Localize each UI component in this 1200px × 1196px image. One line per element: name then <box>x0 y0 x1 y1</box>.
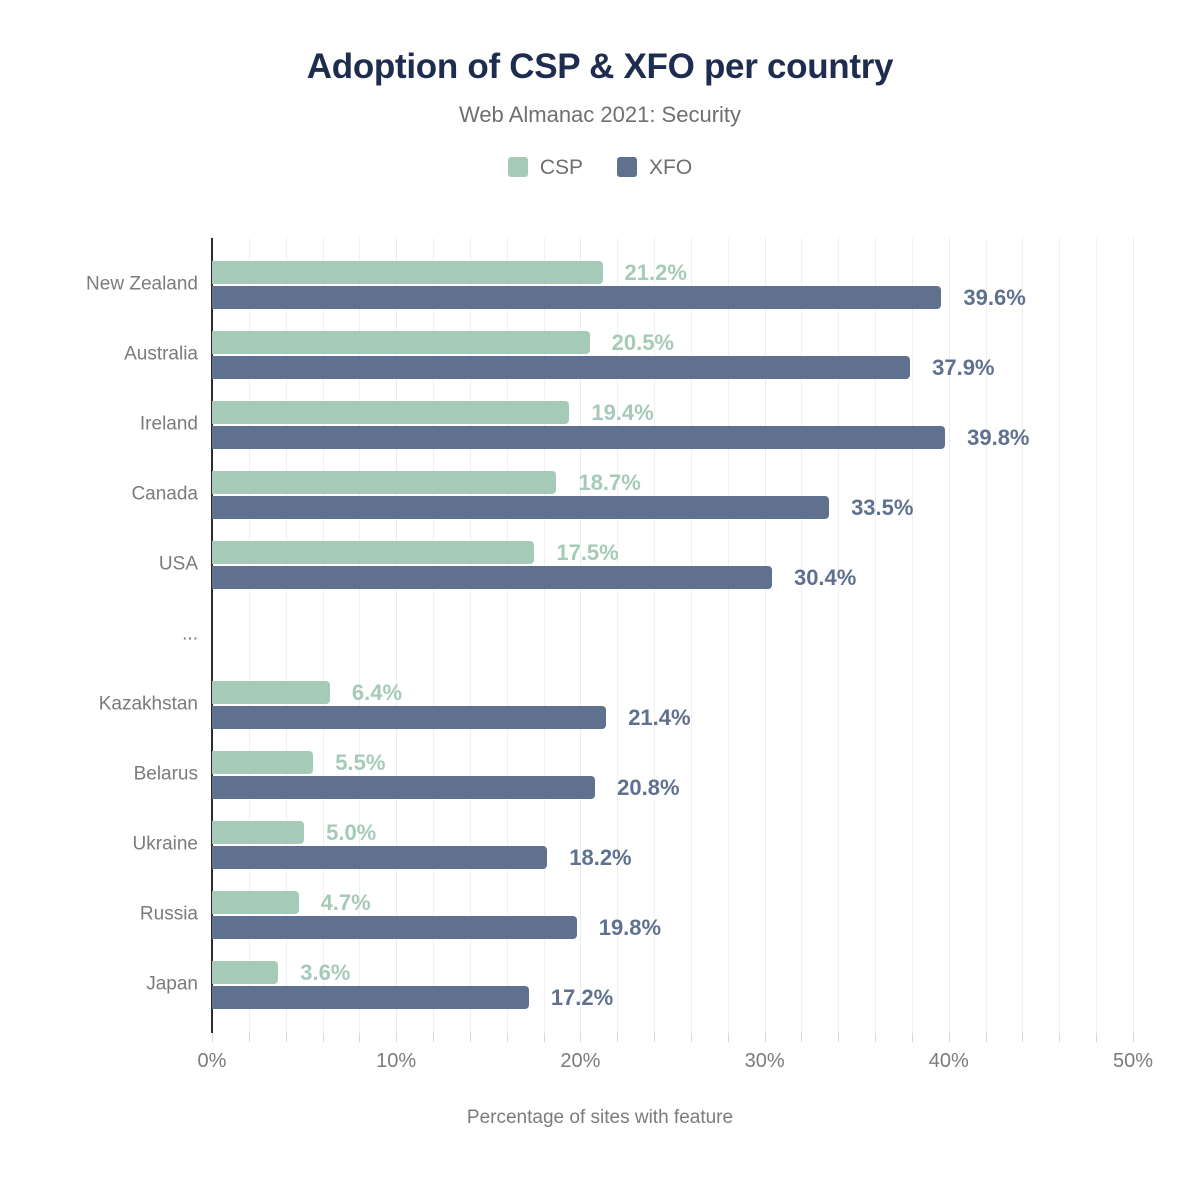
bar-value-xfo: 20.8% <box>617 777 679 799</box>
bar-track-csp: 4.7% <box>212 891 1200 914</box>
bar-csp[interactable] <box>212 261 603 284</box>
bar-value-xfo: 39.6% <box>963 287 1025 309</box>
row-bars: 5.5%20.8% <box>212 740 1200 810</box>
bar-track-csp: 21.2% <box>212 261 1200 284</box>
bar-xfo[interactable] <box>212 916 577 939</box>
row-bars: 6.4%21.4% <box>212 670 1200 740</box>
x-tick-mark <box>507 1033 508 1042</box>
bar-track-csp: 5.0% <box>212 821 1200 844</box>
y-axis-label: USA <box>0 555 198 576</box>
chart-row: Russia4.7%19.8% <box>0 880 1200 950</box>
chart-row: Canada18.7%33.5% <box>0 460 1200 530</box>
chart-row: Japan3.6%17.2% <box>0 950 1200 1020</box>
bar-track-csp: 20.5% <box>212 331 1200 354</box>
chart-title: Adoption of CSP & XFO per country <box>0 48 1200 87</box>
row-bars: 18.7%33.5% <box>212 460 1200 530</box>
x-tick-mark <box>949 1033 950 1042</box>
y-axis-label: Russia <box>0 905 198 926</box>
bar-track-xfo: 20.8% <box>212 776 1200 799</box>
x-tick-mark <box>470 1033 471 1042</box>
bar-xfo[interactable] <box>212 776 595 799</box>
bar-chart: Adoption of CSP & XFO per country Web Al… <box>0 0 1200 178</box>
row-bars <box>212 600 1200 670</box>
bar-xfo[interactable] <box>212 566 772 589</box>
bar-xfo[interactable] <box>212 286 941 309</box>
bar-track-csp: 3.6% <box>212 961 1200 984</box>
y-axis-label: New Zealand <box>0 275 198 296</box>
y-axis-label: Australia <box>0 345 198 366</box>
x-tick-mark <box>396 1033 397 1042</box>
bar-value-csp: 21.2% <box>625 262 687 284</box>
bar-value-csp: 5.0% <box>326 822 376 844</box>
row-bars: 3.6%17.2% <box>212 950 1200 1020</box>
chart-row: Ukraine5.0%18.2% <box>0 810 1200 880</box>
y-axis-label: Canada <box>0 485 198 506</box>
x-tick-mark <box>1096 1033 1097 1042</box>
x-tick-label: 0% <box>198 1051 227 1071</box>
bar-value-xfo: 39.8% <box>967 427 1029 449</box>
legend-label: XFO <box>649 157 692 178</box>
y-axis-label: Belarus <box>0 765 198 786</box>
row-bars: 4.7%19.8% <box>212 880 1200 950</box>
bar-track-xfo: 39.6% <box>212 286 1200 309</box>
bar-track-csp: 5.5% <box>212 751 1200 774</box>
bar-value-xfo: 17.2% <box>551 987 613 1009</box>
x-tick-mark <box>838 1033 839 1042</box>
bar-value-xfo: 18.2% <box>569 847 631 869</box>
legend-swatch-xfo-icon <box>617 157 637 177</box>
bar-csp[interactable] <box>212 471 556 494</box>
chart-row: Ireland19.4%39.8% <box>0 390 1200 460</box>
x-tick-mark <box>691 1033 692 1042</box>
bar-value-csp: 5.5% <box>335 752 385 774</box>
row-bars: 5.0%18.2% <box>212 810 1200 880</box>
bar-value-csp: 18.7% <box>578 472 640 494</box>
bar-track-csp: 19.4% <box>212 401 1200 424</box>
x-tick-mark <box>1022 1033 1023 1042</box>
chart-subtitle: Web Almanac 2021: Security <box>0 103 1200 127</box>
x-tick-mark <box>249 1033 250 1042</box>
bar-csp[interactable] <box>212 891 299 914</box>
x-tick-mark <box>323 1033 324 1042</box>
bar-track-xfo: 30.4% <box>212 566 1200 589</box>
bar-value-xfo: 33.5% <box>851 497 913 519</box>
bar-track-xfo: 37.9% <box>212 356 1200 379</box>
bar-csp[interactable] <box>212 541 534 564</box>
chart-row: ... <box>0 600 1200 670</box>
y-axis-label: ... <box>0 625 198 646</box>
x-tick-label: 40% <box>929 1051 969 1071</box>
x-tick-label: 50% <box>1113 1051 1153 1071</box>
legend-swatch-csp-icon <box>508 157 528 177</box>
legend-item-csp[interactable]: CSP <box>508 157 583 178</box>
bar-xfo[interactable] <box>212 426 945 449</box>
bar-csp[interactable] <box>212 751 313 774</box>
row-bars: 21.2%39.6% <box>212 250 1200 320</box>
bar-csp[interactable] <box>212 401 569 424</box>
x-tick-mark <box>544 1033 545 1042</box>
bar-track-csp: 6.4% <box>212 681 1200 704</box>
x-tick-mark <box>286 1033 287 1042</box>
bar-value-csp: 6.4% <box>352 682 402 704</box>
row-bars: 20.5%37.9% <box>212 320 1200 390</box>
bar-xfo[interactable] <box>212 846 547 869</box>
chart-header: Adoption of CSP & XFO per country Web Al… <box>0 0 1200 178</box>
bar-track-xfo: 17.2% <box>212 986 1200 1009</box>
row-bars: 17.5%30.4% <box>212 530 1200 600</box>
bar-value-xfo: 30.4% <box>794 567 856 589</box>
x-axis: 0%10%20%30%40%50% <box>0 1033 1200 1093</box>
x-tick-mark <box>1059 1033 1060 1042</box>
bar-csp[interactable] <box>212 821 304 844</box>
y-axis-label: Ireland <box>0 415 198 436</box>
x-tick-mark <box>801 1033 802 1042</box>
legend-item-xfo[interactable]: XFO <box>617 157 692 178</box>
x-tick-mark <box>765 1033 766 1042</box>
bar-value-xfo: 19.8% <box>599 917 661 939</box>
x-tick-mark <box>433 1033 434 1042</box>
x-tick-label: 20% <box>560 1051 600 1071</box>
bar-track-xfo: 33.5% <box>212 496 1200 519</box>
chart-row: USA17.5%30.4% <box>0 530 1200 600</box>
bar-xfo[interactable] <box>212 986 529 1009</box>
x-tick-mark <box>986 1033 987 1042</box>
x-tick-mark <box>728 1033 729 1042</box>
bar-csp[interactable] <box>212 681 330 704</box>
chart-row: Kazakhstan6.4%21.4% <box>0 670 1200 740</box>
bar-value-csp: 3.6% <box>300 962 350 984</box>
chart-row: Australia20.5%37.9% <box>0 320 1200 390</box>
x-tick-mark <box>580 1033 581 1042</box>
bar-track-xfo: 19.8% <box>212 916 1200 939</box>
chart-row: Belarus5.5%20.8% <box>0 740 1200 810</box>
x-tick-mark <box>617 1033 618 1042</box>
bar-track-xfo: 21.4% <box>212 706 1200 729</box>
bar-value-csp: 20.5% <box>612 332 674 354</box>
y-axis-label: Japan <box>0 975 198 996</box>
bar-value-xfo: 21.4% <box>628 707 690 729</box>
bar-track-xfo: 39.8% <box>212 426 1200 449</box>
bar-xfo[interactable] <box>212 706 606 729</box>
bar-xfo[interactable] <box>212 356 910 379</box>
x-tick-label: 30% <box>745 1051 785 1071</box>
row-bars: 19.4%39.8% <box>212 390 1200 460</box>
bar-value-xfo: 37.9% <box>932 357 994 379</box>
x-tick-mark <box>875 1033 876 1042</box>
legend-label: CSP <box>540 157 583 178</box>
x-tick-mark <box>912 1033 913 1042</box>
bar-track-csp: 17.5% <box>212 541 1200 564</box>
x-tick-mark <box>1133 1033 1134 1042</box>
x-tick-mark <box>654 1033 655 1042</box>
plot-area: New Zealand21.2%39.6%Australia20.5%37.9%… <box>0 238 1200 1033</box>
y-axis-label: Kazakhstan <box>0 695 198 716</box>
chart-legend: CSPXFO <box>0 157 1200 178</box>
bar-track-xfo: 18.2% <box>212 846 1200 869</box>
x-tick-mark <box>359 1033 360 1042</box>
x-tick-mark <box>212 1033 213 1042</box>
chart-row: New Zealand21.2%39.6% <box>0 250 1200 320</box>
bar-xfo[interactable] <box>212 496 829 519</box>
x-tick-label: 10% <box>376 1051 416 1071</box>
bar-value-csp: 17.5% <box>556 542 618 564</box>
bar-csp[interactable] <box>212 961 278 984</box>
bar-value-csp: 4.7% <box>321 892 371 914</box>
bar-csp[interactable] <box>212 331 590 354</box>
y-axis-label: Ukraine <box>0 835 198 856</box>
x-axis-title: Percentage of sites with feature <box>0 1108 1200 1129</box>
bar-track-csp: 18.7% <box>212 471 1200 494</box>
bar-value-csp: 19.4% <box>591 402 653 424</box>
